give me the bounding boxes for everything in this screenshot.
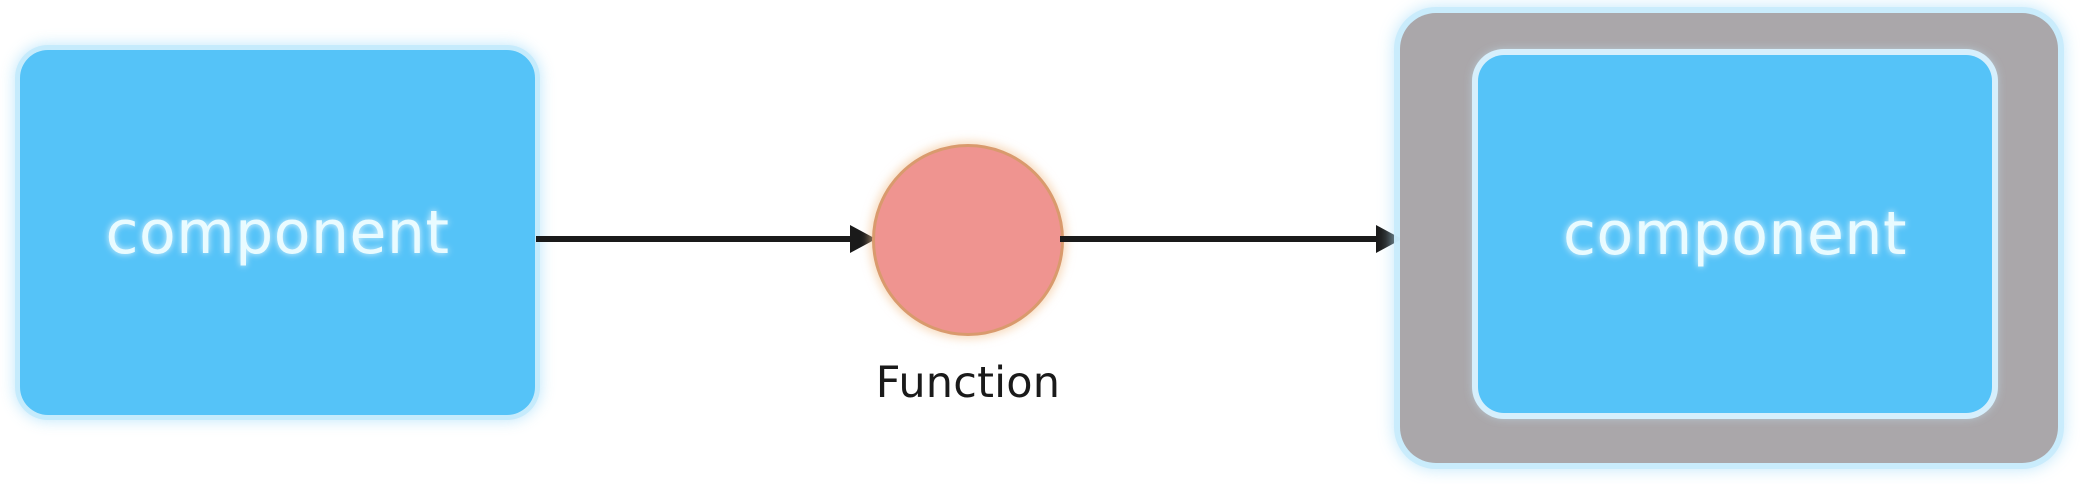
edge-function-to-right-arrowhead [1376,225,1402,253]
node-left-component-label: component [20,198,535,268]
function-circle-shape [872,144,1064,336]
edge-function-to-right [1060,219,1402,259]
diagram-canvas: component Function component [0,0,2080,484]
node-right-component-label: component [1478,199,1992,269]
edge-left-to-function [536,219,876,259]
node-function[interactable]: Function [872,144,1064,336]
node-right-component[interactable]: component [1478,55,1992,413]
node-right-container[interactable]: component [1400,13,2058,463]
node-function-caption: Function [876,358,1061,408]
node-left-component[interactable]: component [20,50,535,415]
